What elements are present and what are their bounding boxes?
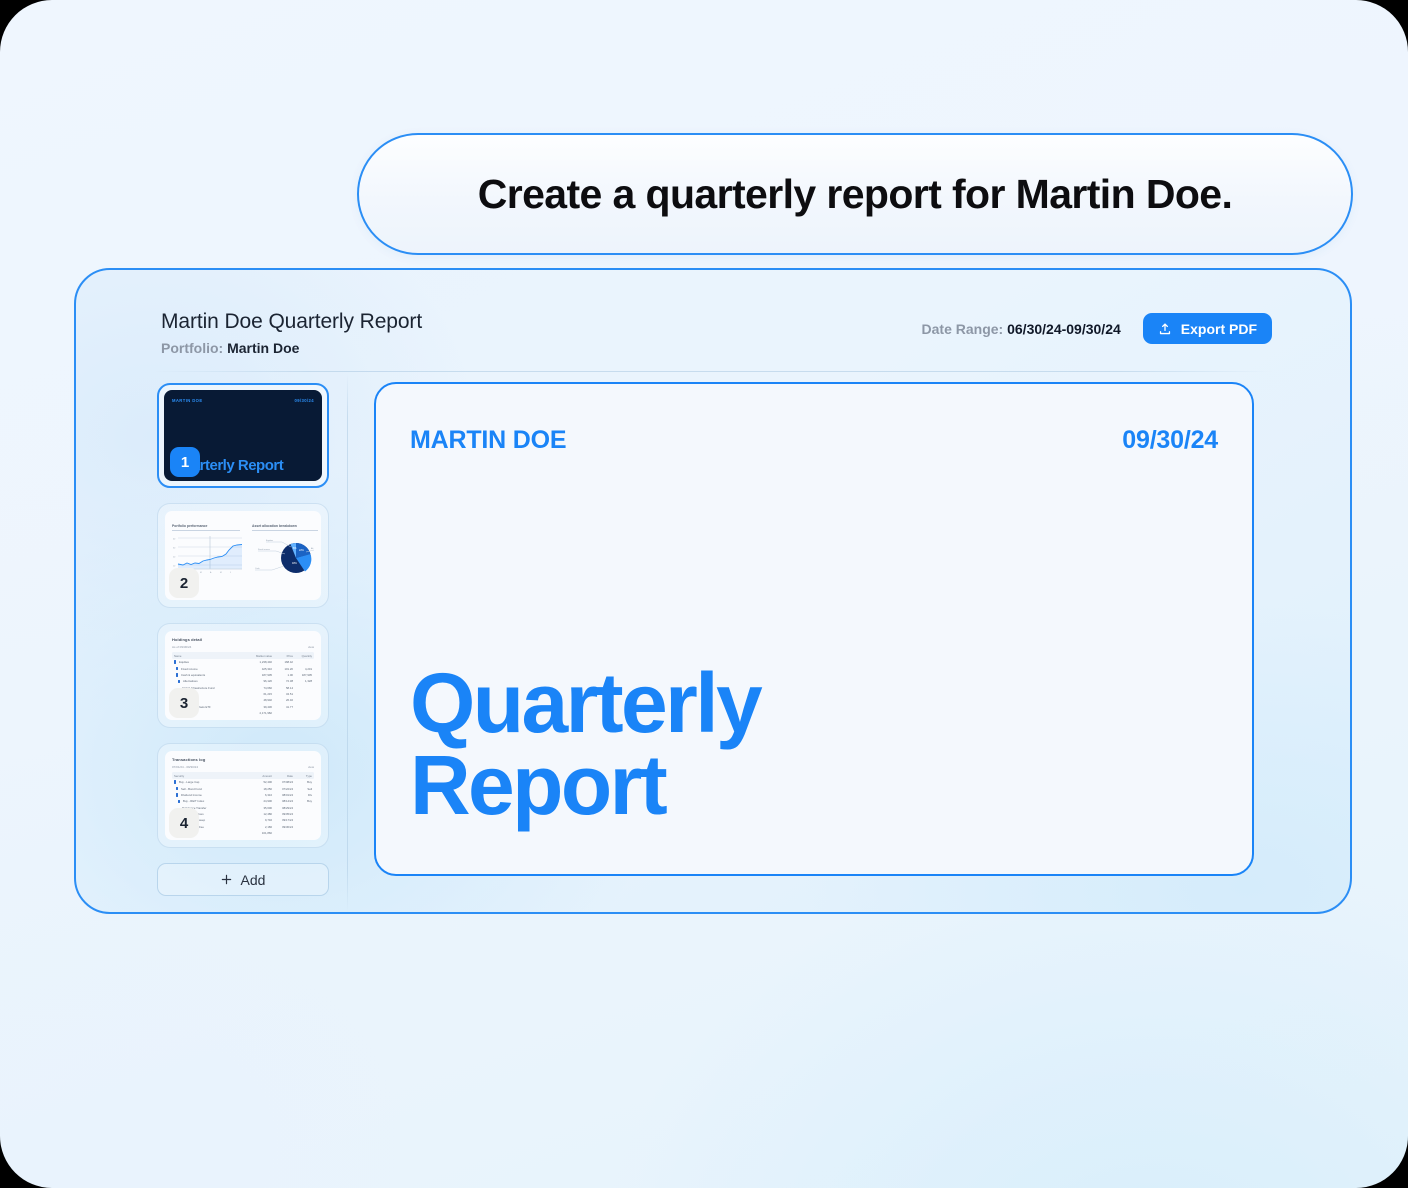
slide-thumbnail-rail: MARTIN DOE 09/30/24 Quarterly Report 1 P… [157,383,329,896]
table-cell: 08/14/24 [275,799,293,803]
table-cell: 18,250 [250,787,272,791]
table-cell: 48,902 [250,698,272,702]
svg-text:Alt: Alt [311,547,314,550]
mini-pie-rule [252,530,318,531]
table-cell: Buy - Large Cap [179,780,247,784]
table-cell: Equities [179,660,247,664]
svg-text:M: M [220,572,222,574]
table-cell: 6,310 [250,793,272,797]
svg-text:J: J [230,572,231,574]
header-right-group: Date Range: 06/30/24-09/30/24 Export PDF [922,313,1272,344]
svg-text:Equities: Equities [266,539,273,542]
prompt-text: Create a quarterly report for Martin Doe… [478,171,1233,218]
row-marker-icon [176,667,178,670]
row-marker-icon [174,780,176,783]
svg-text:Cash: Cash [255,568,260,570]
header-left-group: Martin Doe Quarterly Report Portfolio: M… [161,310,422,356]
table-cell: Buy [296,780,312,784]
slide-thumbnail-3[interactable]: Holdings detail As of 09/30/24 view Name… [157,623,329,728]
table-cell: Sell - Bond Fund [181,787,247,791]
table-cell: 2,171,982 [250,711,272,715]
table-cell: 61,215 [250,692,272,696]
svg-text:A: A [210,571,212,574]
table-cell: Alternatives [183,679,247,683]
slide-headline: Quarterly Report [410,663,760,826]
table-cell: 07/22/24 [275,787,293,791]
table-cell: 187,905 [250,673,272,677]
vertical-divider [347,373,348,912]
table-cell: Sell [296,787,312,791]
app-header: Martin Doe Quarterly Report Portfolio: M… [76,270,1350,372]
mini-col-3-1: Market value [250,654,272,658]
slide-canvas[interactable]: MARTIN DOE 09/30/24 Quarterly Report [374,382,1254,876]
mini-col-4-1: Amount [250,774,272,778]
mini-col-4-3: Type [296,774,312,778]
mini-table-3-subtitle: As of 09/30/24 view [172,645,314,649]
row-marker-icon [178,800,180,803]
slide-number-badge-4: 4 [169,808,199,838]
page-title: Martin Doe Quarterly Report [161,310,422,334]
mini-table-3-view-link: view [308,645,314,649]
mini-table-4-subtitle: 07/01/24 - 09/30/24 view [172,765,314,769]
table-cell: 9,740 [250,818,272,822]
table-cell: 08/29/24 [275,806,293,810]
slide-number-badge-3: 3 [169,688,199,718]
mini-table-3-title: Holdings detail [172,637,314,642]
row-marker-icon [174,660,176,663]
table-cell: 58.14 [275,686,293,690]
mini-table-4-subtitle-text: 07/01/24 - 09/30/24 [172,765,198,769]
mini-cover-date: 09/30/24 [294,398,314,403]
slide-date: 09/30/24 [1122,426,1218,455]
table-cell: 09/05/24 [275,812,293,816]
export-pdf-button[interactable]: Export PDF [1143,313,1272,344]
mini-cover-topbar: MARTIN DOE 09/30/24 [172,398,314,403]
svg-text:20: 20 [173,557,176,559]
slide-number-badge-1: 1 [170,447,200,477]
row-marker-icon [176,787,178,790]
mini-table-3-header-row: Name Market value Price Quantity [172,652,314,659]
svg-text:40: 40 [173,539,176,541]
plus-icon [221,872,232,888]
date-range[interactable]: Date Range: 06/30/24-09/30/24 [922,321,1121,337]
table-cell: 4,201 [296,667,312,671]
table-cell: 101.20 [275,667,293,671]
table-cell: 1,238,440 [250,660,272,664]
add-slide-label: Add [241,872,266,888]
slide-top-bar: MARTIN DOE 09/30/24 [410,426,1218,455]
table-cell: Buy - REIT Index [183,799,247,803]
table-cell: 35,600 [250,806,272,810]
table-cell: 425,310 [250,667,272,671]
mini-col-3-0: Name [174,654,247,658]
app-window: Martin Doe Quarterly Report Portfolio: M… [74,268,1352,914]
mini-col-4-0: Security [174,774,247,778]
portfolio-label: Portfolio: [161,340,223,356]
table-cell: 1,328 [296,679,312,683]
mini-pie-chart: Equities Fixed income Cash Alt 22%48%8% [252,533,318,581]
slide-thumbnail-2[interactable]: Portfolio performance [157,503,329,608]
mini-col-4-2: Date [275,774,293,778]
svg-text:Fixed income: Fixed income [258,549,271,551]
slide-thumbnail-4[interactable]: Transactions log 07/01/24 - 09/30/24 vie… [157,743,329,848]
mini-table-3-subtitle-text: As of 09/30/24 [172,645,191,649]
slide-thumbnail-1[interactable]: MARTIN DOE 09/30/24 Quarterly Report 1 [157,383,329,488]
date-range-value: 06/30/24-09/30/24 [1007,321,1121,337]
mini-line-chart-title: Portfolio performance [172,524,207,528]
table-cell: Fixed income [181,667,247,671]
table-cell: 08/01/24 [275,793,293,797]
table-cell: Dividend Income [181,793,247,797]
mini-pie-chart-title: Asset allocation breakdown [252,524,297,528]
table-cell: Cash & equivalents [181,673,247,677]
table-cell: 74,660 [250,686,272,690]
portfolio-value: Martin Doe [227,340,299,356]
table-cell: 52,400 [250,780,272,784]
mini-col-3-3: Quantity [296,654,312,658]
mini-table-4-title: Transactions log [172,757,314,762]
table-cell: 1.00 [275,673,293,677]
date-range-label: Date Range: [922,321,1004,337]
table-cell: 168.42 [275,660,293,664]
table-cell: 161,860 [250,831,272,835]
mini-cover-name: MARTIN DOE [172,398,203,403]
table-cell: Div [296,793,312,797]
row-marker-icon [176,673,178,676]
row-marker-icon [178,680,180,683]
table-cell: 07/08/24 [275,780,293,784]
table-cell: 09/30/24 [275,825,293,829]
mini-table-4-view-link: view [308,765,314,769]
page-surface: Create a quarterly report for Martin Doe… [0,0,1408,1188]
mini-col-3-2: Price [275,654,293,658]
table-cell: 2,180 [250,825,272,829]
export-pdf-label: Export PDF [1181,321,1257,337]
svg-text:30: 30 [173,548,176,550]
table-cell: 26.40 [275,698,293,702]
mini-table-4-header-row: Security Amount Date Type [172,772,314,779]
app-body: MARTIN DOE 09/30/24 Quarterly Report 1 P… [76,373,1350,912]
table-cell: Buy [296,799,312,803]
mini-line-rule [172,530,240,531]
table-cell: 12,480 [250,812,272,816]
slide-number-badge-2: 2 [169,568,199,598]
table-cell: 24,900 [250,799,272,803]
add-slide-button[interactable]: Add [157,863,329,896]
prompt-input-pill[interactable]: Create a quarterly report for Martin Doe… [357,133,1353,255]
slide-client-name: MARTIN DOE [410,426,566,455]
table-cell: 187,905 [296,673,312,677]
upload-icon [1158,322,1172,336]
table-cell: 72.38 [275,679,293,683]
svg-text:M: M [200,572,202,574]
table-cell: 34.51 [275,692,293,696]
table-cell: 39,430 [250,705,272,709]
table-cell: 09/17/24 [275,818,293,822]
portfolio-line: Portfolio: Martin Doe [161,340,422,356]
row-marker-icon [176,793,178,796]
table-cell: 41.77 [275,705,293,709]
table-cell: 96,120 [250,679,272,683]
header-divider [154,371,1272,372]
